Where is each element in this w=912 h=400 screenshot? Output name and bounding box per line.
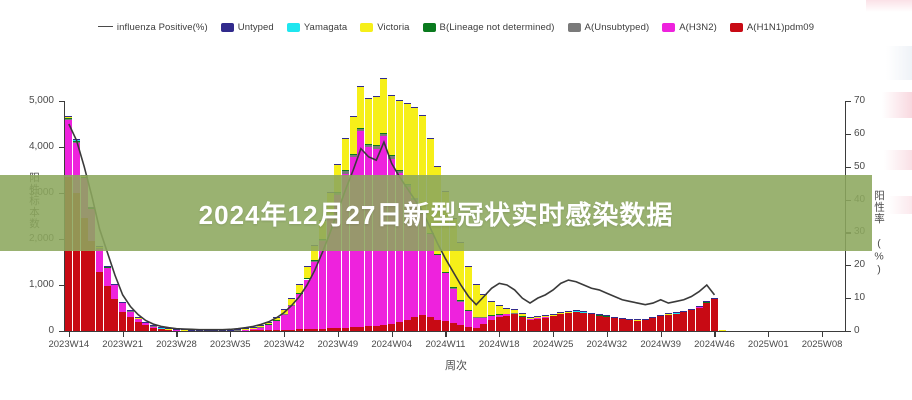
y-tick-label-left: 5,000 (29, 95, 54, 106)
x-tick-label: 2024W11 (425, 339, 465, 350)
x-tick-label: 2023W42 (264, 339, 305, 350)
y-tick-label-right: 20 (854, 259, 865, 270)
y-tick-label-right: 60 (854, 128, 865, 139)
y-tick-label-right: 10 (854, 292, 865, 303)
y-tick-label-left: 1,000 (29, 279, 54, 290)
x-tick (499, 332, 500, 337)
x-tick-label: 2023W28 (156, 339, 197, 350)
bar-segment (365, 98, 372, 99)
y-tick-right (846, 167, 851, 168)
x-tick (553, 332, 554, 337)
x-tick-label: 2024W04 (371, 339, 412, 350)
y-tick-label-right: 0 (854, 325, 860, 336)
y-tick-right (846, 331, 851, 332)
x-tick-label: 2025W01 (748, 339, 789, 350)
bar-segment (357, 86, 364, 87)
x-tick-label: 2024W46 (694, 339, 735, 350)
y-tick-right (846, 265, 851, 266)
y-tick-left (59, 101, 64, 102)
x-tick (69, 332, 70, 337)
y-tick-left (59, 331, 64, 332)
x-tick (230, 332, 231, 337)
y-tick-label-left: 0 (48, 325, 54, 336)
x-tick-label: 2023W35 (210, 339, 251, 350)
y-tick-right (846, 101, 851, 102)
x-tick (822, 332, 823, 337)
x-tick-label: 2024W18 (479, 339, 520, 350)
x-axis-title: 周次 (0, 357, 912, 373)
chart-page: influenza Positive(%)UntypedYamagataVict… (0, 0, 912, 400)
bar-segment (380, 78, 387, 79)
x-tick (123, 332, 124, 337)
x-axis (64, 331, 846, 332)
bar-segment (373, 96, 380, 97)
headline-text: 2024年12月27日新型冠状实时感染数据 (0, 175, 872, 251)
x-tick (714, 332, 715, 337)
x-tick (176, 332, 177, 337)
y-tick-label-right: 70 (854, 95, 865, 106)
x-tick (392, 332, 393, 337)
y-tick-label-right: 50 (854, 161, 865, 172)
x-tick-label: 2023W14 (48, 339, 89, 350)
x-tick (607, 332, 608, 337)
x-tick (338, 332, 339, 337)
x-tick (284, 332, 285, 337)
y-tick-right (846, 298, 851, 299)
x-tick-label: 2024W25 (533, 339, 574, 350)
bar-segment (388, 95, 395, 96)
y-tick-left (59, 285, 64, 286)
x-tick-label: 2024W39 (640, 339, 681, 350)
y-tick-right (846, 134, 851, 135)
x-tick-label: 2024W32 (587, 339, 628, 350)
x-tick (661, 332, 662, 337)
x-tick-label: 2023W49 (318, 339, 359, 350)
y-tick-left (59, 147, 64, 148)
x-tick (768, 332, 769, 337)
y-axis-right-title: 阳性率 (%) (872, 190, 887, 277)
x-tick-label: 2023W21 (102, 339, 143, 350)
y-tick-label-left: 4,000 (29, 141, 54, 152)
x-tick-label: 2025W08 (802, 339, 843, 350)
x-tick (445, 332, 446, 337)
